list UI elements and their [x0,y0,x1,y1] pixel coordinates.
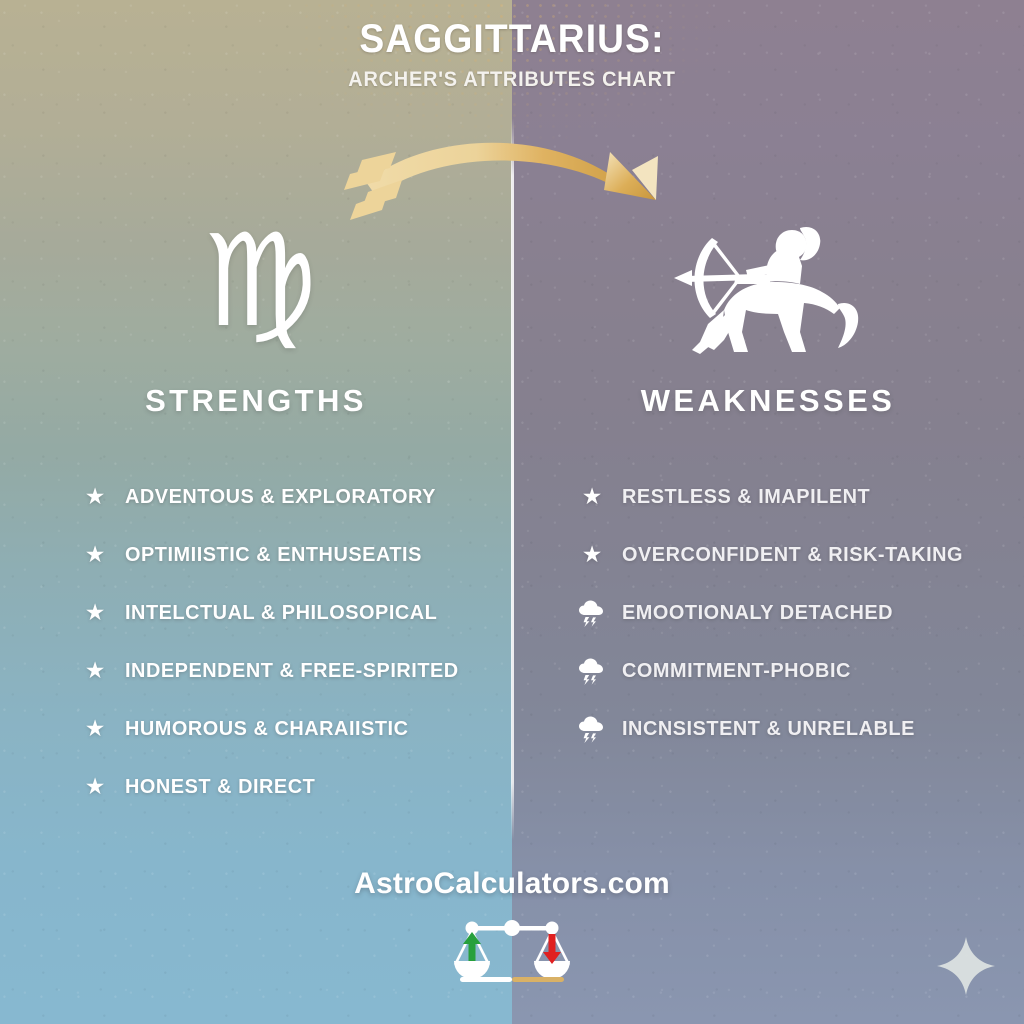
balance-scales-icon [452,915,572,1005]
storm-cloud-icon [575,656,609,686]
star-icon: ★ [78,776,112,799]
strengths-list: ★ ADVENTOUS & EXPLORATORY ★ OPTIMIISTIC … [78,468,508,816]
star-icon: ★ [78,660,112,683]
star-icon: ★ [78,486,112,509]
list-item: ★ OVERCONFIDENT & RISK-TAKING [575,526,1015,584]
list-item: ★ OPTIMIISTIC & ENTHUSEATIS [78,526,508,584]
strengths-heading: STRENGTHS [0,383,512,419]
star-icon: ★ [575,544,609,567]
storm-cloud-icon [575,714,609,744]
list-item-label: OVERCONFIDENT & RISK-TAKING [622,543,963,567]
centaur-archer-icon [650,214,870,364]
header: SAGGITTARIUS: ARCHER'S ATTRIBUTES CHART [0,18,1024,92]
list-item-label: INDEPENDENT & FREE-SPIRITED [125,659,459,683]
list-item: ★ HONEST & DIRECT [78,758,508,816]
list-item: ★ ADVENTOUS & EXPLORATORY [78,468,508,526]
list-item-label: INTELCTUAL & PHILOSOPICAL [125,601,437,625]
star-icon: ★ [78,602,112,625]
star-icon: ★ [575,486,609,509]
storm-cloud-icon [575,598,609,628]
list-item: COMMITMENT-PHOBIC [575,642,1015,700]
sagittarius-attributes-infographic: SAGGITTARIUS: ARCHER'S ATTRIBUTES CHART [0,0,1024,1024]
star-icon: ★ [78,718,112,741]
page-subtitle: ARCHER'S ATTRIBUTES CHART [26,68,999,92]
zodiac-glyph: ♍ [150,218,370,346]
weaknesses-heading: WEAKNESSES [512,383,1024,419]
weaknesses-list: ★ RESTLESS & IMAPILENT ★ OVERCONFIDENT &… [575,468,1015,758]
list-item-label: EMOOTIONALY DETACHED [622,601,893,625]
brand-wordmark: AstroCalculators.com [0,867,1024,901]
list-item-label: HUMOROUS & CHARAIISTIC [125,717,408,741]
list-item-label: HONEST & DIRECT [125,775,315,799]
list-item-label: RESTLESS & IMAPILENT [622,485,870,509]
list-item: INCNSISTENT & UNRELABLE [575,700,1015,758]
list-item-label: COMMITMENT-PHOBIC [622,659,851,683]
list-item-label: ADVENTOUS & EXPLORATORY [125,485,436,509]
list-item: ★ HUMOROUS & CHARAIISTIC [78,700,508,758]
list-item: EMOOTIONALY DETACHED [575,584,1015,642]
page-title: SAGGITTARIUS: [36,18,988,60]
list-item: ★ RESTLESS & IMAPILENT [575,468,1015,526]
golden-arrow-icon [332,130,692,235]
sparkle-icon [935,935,997,997]
list-item: ★ INTELCTUAL & PHILOSOPICAL [78,584,508,642]
list-item-label: INCNSISTENT & UNRELABLE [622,717,915,741]
list-item: ★ INDEPENDENT & FREE-SPIRITED [78,642,508,700]
star-icon: ★ [78,544,112,567]
list-item-label: OPTIMIISTIC & ENTHUSEATIS [125,543,422,567]
